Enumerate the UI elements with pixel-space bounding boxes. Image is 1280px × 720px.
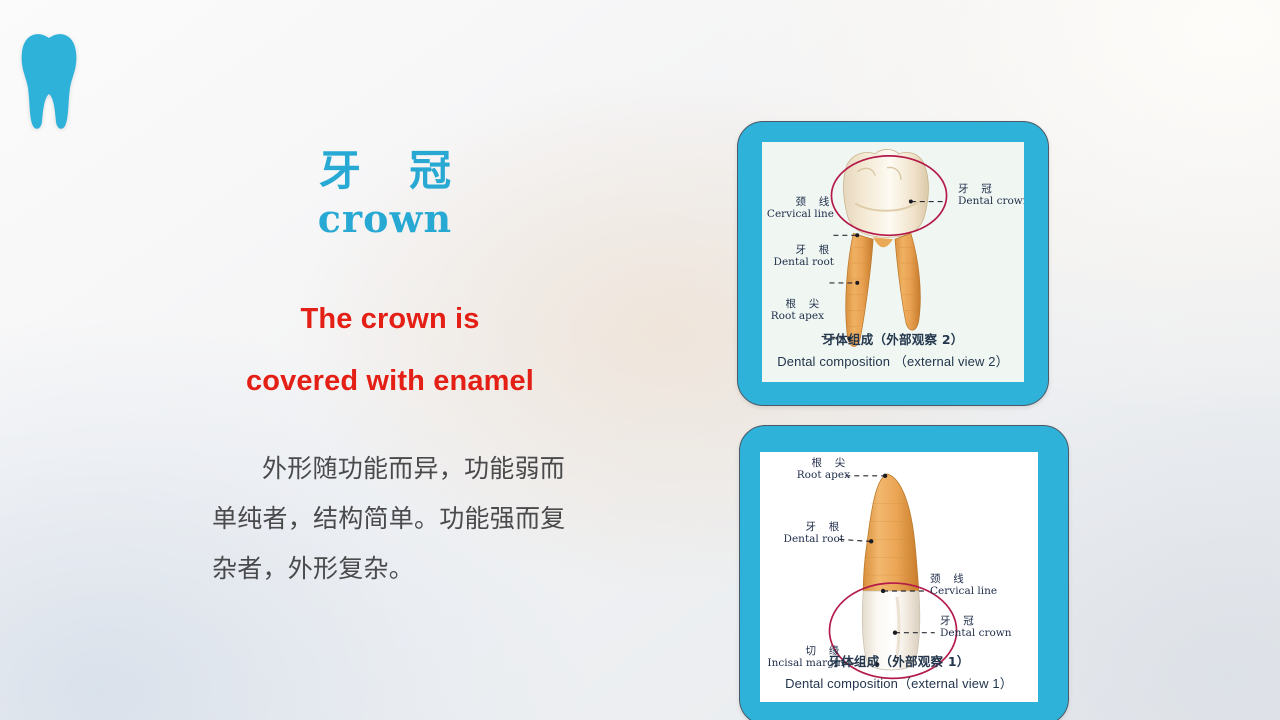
- figure-caption-molar: 牙体组成（外部观察 2） Dental composition （externa…: [762, 329, 1024, 370]
- figure-panel-molar: 牙 冠 Dental crown 颈 线 Cervical line 牙 根 D…: [737, 121, 1049, 406]
- label-dental-crown: 牙 冠 Dental crown: [958, 184, 1024, 208]
- figure-plate-incisor: 根 尖 Root apex 牙 根 Dental root 颈 线 Cervic…: [760, 452, 1038, 702]
- label-cervical-line: 颈 线 Cervical line: [762, 197, 834, 221]
- tooth-icon: [18, 32, 80, 130]
- label-cervical-line: 颈 线 Cervical line: [930, 574, 997, 598]
- figure-panel-incisor: 根 尖 Root apex 牙 根 Dental root 颈 线 Cervic…: [739, 425, 1069, 720]
- headline-line-2: covered with enamel: [130, 365, 650, 398]
- label-root-apex: 根 尖 Root apex: [776, 458, 850, 482]
- label-root-apex: 根 尖 Root apex: [762, 299, 824, 323]
- headline-line-1: The crown is: [130, 303, 650, 336]
- title-english: crown: [170, 197, 600, 241]
- label-dental-crown: 牙 冠 Dental crown: [940, 616, 1012, 640]
- title-chinese: 牙 冠: [170, 148, 600, 193]
- figure-caption-incisor: 牙体组成（外部观察 1） Dental composition（external…: [760, 651, 1038, 692]
- slide-canvas: 牙 冠 crown The crown is covered with enam…: [0, 0, 1280, 720]
- body-paragraph: 外形随功能而异，功能弱而单纯者，结构简单。功能强而复杂者，外形复杂。: [212, 444, 584, 594]
- label-dental-root: 牙 根 Dental root: [766, 522, 844, 546]
- page-title: 牙 冠 crown: [170, 148, 600, 241]
- label-dental-root: 牙 根 Dental root: [762, 245, 834, 269]
- figure-plate-molar: 牙 冠 Dental crown 颈 线 Cervical line 牙 根 D…: [762, 142, 1024, 382]
